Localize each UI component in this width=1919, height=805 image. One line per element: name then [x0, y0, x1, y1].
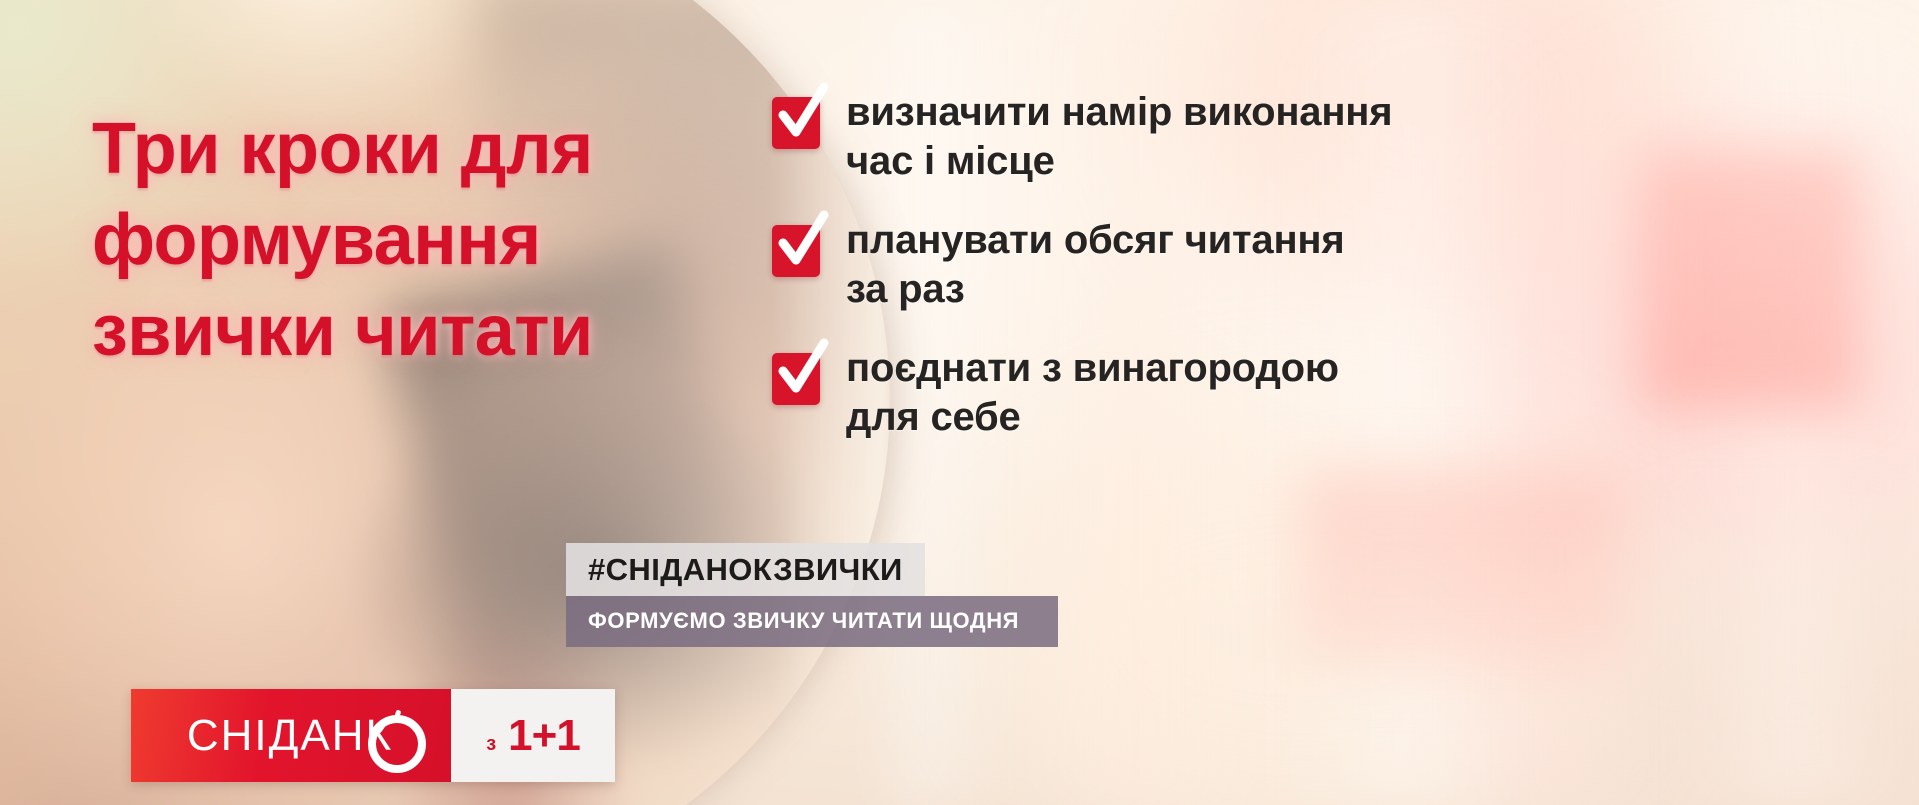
- channel-logo-bar: СНІДАНК з 1+1: [131, 689, 615, 782]
- checklist-item-line-1: поєднати з винагородою: [846, 346, 1339, 390]
- hashtag-banner: #СНІДАНОКЗВИЧКИ ФОРМУЄМО ЗВИЧКУ ЧИТАТИ Щ…: [566, 543, 1058, 647]
- checklist-item-line-2: за раз: [846, 265, 1345, 314]
- checklist: визначити намір виконання час і місце пл…: [772, 88, 1392, 442]
- checklist-item: планувати обсяг читання за раз: [772, 216, 1392, 314]
- logo-ring-icon: [368, 715, 426, 773]
- headline-line-3: звички читати: [92, 286, 732, 377]
- checklist-item-line-1: планувати обсяг читання: [846, 218, 1345, 262]
- show-logo-text-part1: СНІДАН: [187, 711, 366, 760]
- checkbox-checked-icon: [772, 353, 820, 405]
- channel-with-label: з: [486, 733, 496, 782]
- checklist-item: визначити намір виконання час і місце: [772, 88, 1392, 186]
- checkbox-checked-icon: [772, 97, 820, 149]
- show-logo-text: СНІДАНК: [187, 711, 395, 761]
- banner-subtitle: ФОРМУЄМО ЗВИЧКУ ЧИТАТИ ЩОДНЯ: [566, 596, 1058, 647]
- checkbox-checked-icon: [772, 225, 820, 277]
- checklist-item-line-2: час і місце: [846, 137, 1392, 186]
- background-pink-panel: [1640, 150, 1860, 410]
- checklist-item-text: визначити намір виконання час і місце: [846, 88, 1392, 186]
- channel-name: 1+1: [508, 711, 580, 761]
- checklist-item-line-2: для себе: [846, 393, 1339, 442]
- broadcast-graphic: Три кроки для формування звички читати в…: [0, 0, 1919, 805]
- checklist-item-text: поєднати з винагородою для себе: [846, 344, 1339, 442]
- headline: Три кроки для формування звички читати: [92, 104, 732, 377]
- show-logo: СНІДАНК: [131, 689, 451, 782]
- checklist-item-text: планувати обсяг читання за раз: [846, 216, 1345, 314]
- hashtag-text: #СНІДАНОКЗВИЧКИ: [566, 543, 925, 596]
- channel-badge: з 1+1: [451, 689, 615, 782]
- background-pink-panel: [1300, 470, 1630, 670]
- checklist-item: поєднати з винагородою для себе: [772, 344, 1392, 442]
- headline-line-1: Три кроки для: [92, 104, 732, 195]
- checklist-item-line-1: визначити намір виконання: [846, 90, 1392, 134]
- headline-line-2: формування: [92, 195, 732, 286]
